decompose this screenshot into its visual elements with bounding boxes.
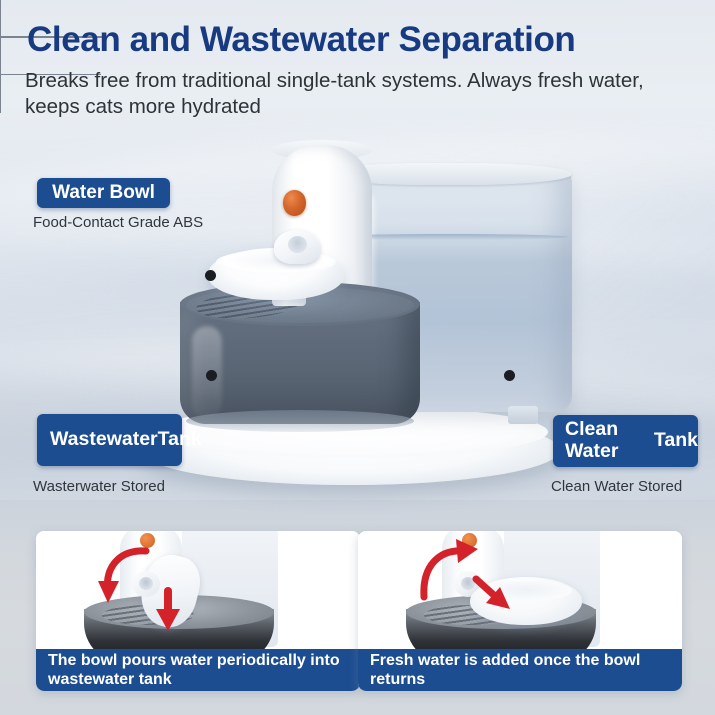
leader-line-water-bowl-vertical xyxy=(0,0,1,36)
badge-wastewater-line2: Tank xyxy=(158,429,202,451)
page-subtitle: Breaks free from traditional single-tank… xyxy=(25,68,685,120)
leader-line-wastewater-vertical xyxy=(0,38,1,74)
caption-clean-water-tank: Clean Water Stored xyxy=(551,478,682,495)
step-card-refill: Fresh water is added once the bowl retur… xyxy=(358,531,682,691)
badge-wastewater-line1: Wastewater xyxy=(50,429,158,451)
power-button-orange-icon xyxy=(283,190,306,216)
clean-tank-foot-right xyxy=(508,406,538,424)
page-title: Clean and Wastewater Separation xyxy=(27,21,697,58)
wastewater-tank-base xyxy=(186,410,414,432)
step-caption-pour: The bowl pours water periodically into w… xyxy=(36,649,360,691)
straight-down-arrow-icon xyxy=(146,587,186,637)
caption-water-bowl: Food-Contact Grade ABS xyxy=(33,214,203,231)
badge-wastewater-tank: Wastewater Tank xyxy=(37,414,182,466)
step-photo-refill xyxy=(358,531,682,655)
leader-dot-wastewater xyxy=(206,370,217,381)
leader-dot-cleanwater xyxy=(504,370,515,381)
badge-clean-water-tank: Clean Water Tank xyxy=(553,415,698,467)
water-spout-opening xyxy=(288,236,307,253)
step-card-pour: The bowl pours water periodically into w… xyxy=(36,531,360,691)
badge-cleanwater-line1: Clean Water xyxy=(565,419,654,463)
straight-down-right-arrow-icon xyxy=(470,573,532,617)
leader-dot-water-bowl xyxy=(205,270,216,281)
leader-line-cleanwater-vertical xyxy=(0,75,1,113)
step-caption-refill: Fresh water is added once the bowl retur… xyxy=(358,649,682,691)
step-photo-pour xyxy=(36,531,360,655)
badge-cleanwater-line2: Tank xyxy=(654,430,698,452)
badge-water-bowl: Water Bowl xyxy=(37,178,170,208)
infographic-canvas: Clean and Wastewater Separation Breaks f… xyxy=(0,0,715,715)
caption-wastewater-tank: Wasterwater Stored xyxy=(33,478,165,495)
